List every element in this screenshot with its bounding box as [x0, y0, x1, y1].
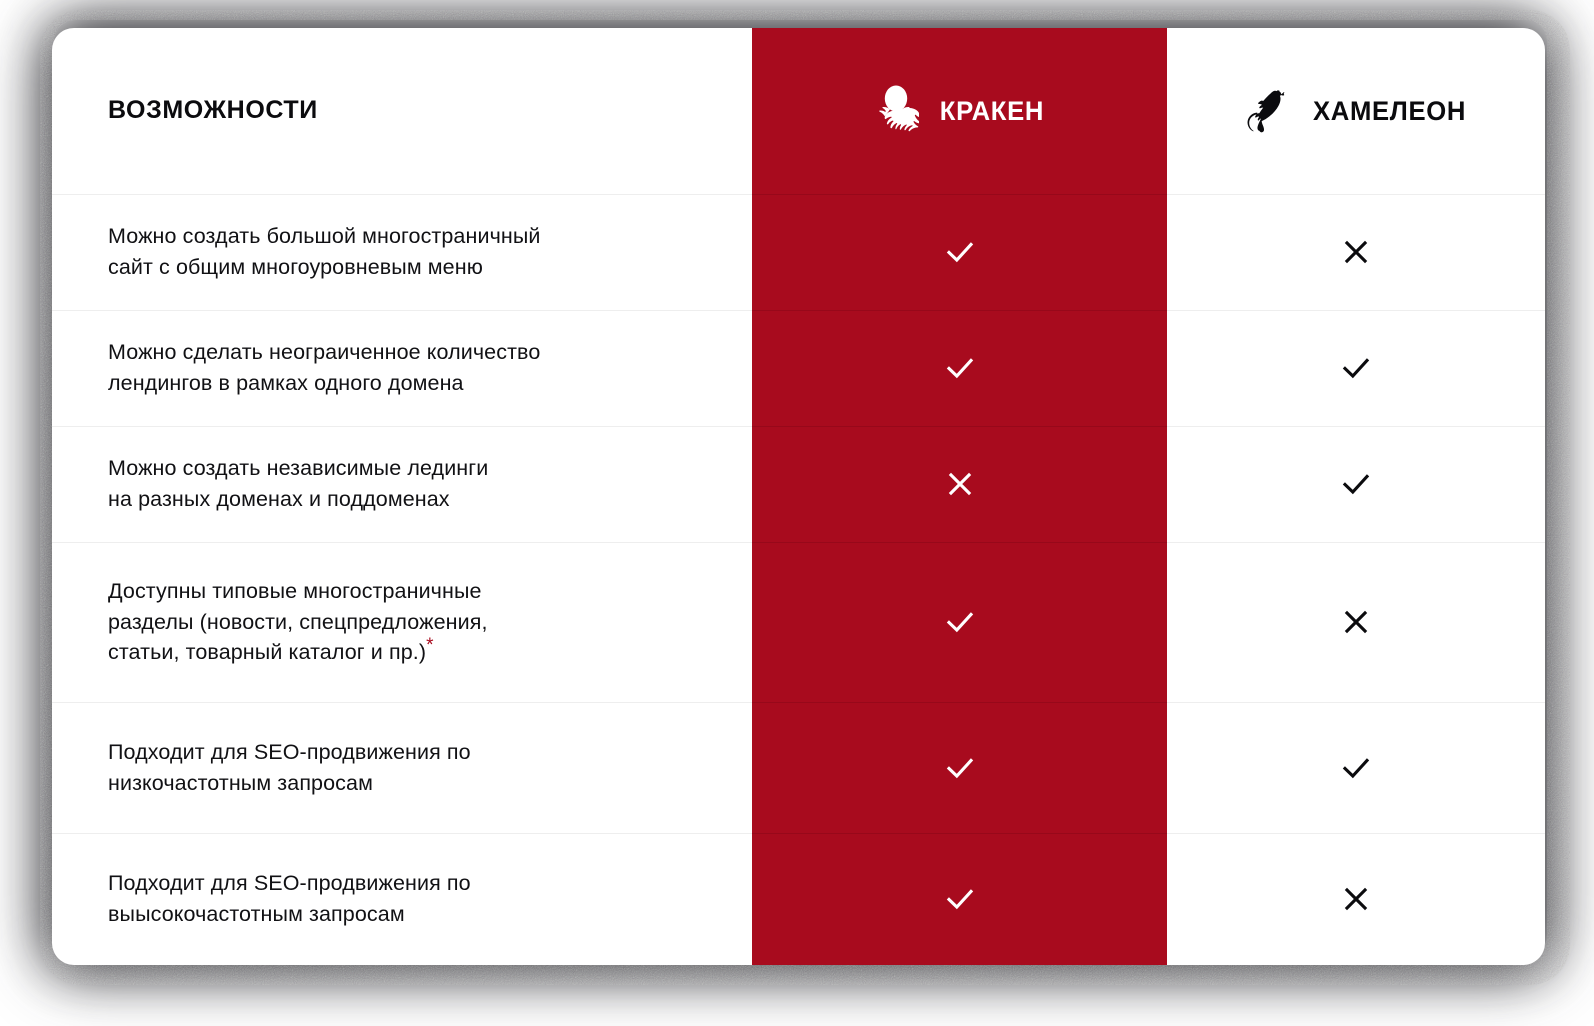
comparison-table: ВОЗМОЖНОСТИ КРАКЕН [52, 28, 1545, 965]
feature-line: статьи, товарный каталог и пр.)* [108, 637, 696, 668]
feature-label: Доступны типовые многостраничные разделы… [52, 576, 752, 668]
feature-line: Подходит для SEO-продвижения по [108, 868, 696, 899]
table-row: Можно создать независимые лединги на раз… [52, 426, 1545, 542]
feature-label: Можно сделать неограиченное количество л… [52, 337, 752, 398]
feature-line: лендингов в рамках одного домена [108, 368, 696, 399]
page-title: ВОЗМОЖНОСТИ [108, 96, 318, 124]
check-icon [1336, 748, 1376, 788]
cell-kraken-check [752, 602, 1167, 642]
chameleon-logo-icon [1241, 84, 1291, 139]
feature-line: низкочастотным запросам [108, 768, 696, 799]
table-header-row: ВОЗМОЖНОСТИ КРАКЕН [52, 28, 1545, 194]
footnote-asterisk: * [426, 635, 434, 656]
brand-name-chameleon: ХАМЕЛЕОН [1313, 96, 1466, 127]
comparison-card: ВОЗМОЖНОСТИ КРАКЕН [52, 28, 1545, 965]
check-icon [940, 879, 980, 919]
header-feature-column: ВОЗМОЖНОСТИ [52, 93, 752, 129]
cell-kraken-cross [752, 464, 1167, 504]
cell-chameleon-check [1167, 748, 1545, 788]
cell-kraken-check [752, 348, 1167, 388]
check-icon [940, 602, 980, 642]
cell-kraken-check [752, 232, 1167, 272]
cross-icon [1336, 232, 1376, 272]
feature-label: Можно создать большой многостраничный са… [52, 221, 752, 282]
check-icon [1336, 464, 1376, 504]
table-row: Доступны типовые многостраничные разделы… [52, 542, 1545, 702]
feature-label: Можно создать независимые лединги на раз… [52, 453, 752, 514]
check-icon [940, 232, 980, 272]
feature-line: Доступны типовые многостраничные [108, 576, 696, 607]
feature-label: Подходит для SEO-продвижения по низкочас… [52, 737, 752, 798]
feature-line: Можно создать независимые лединги [108, 453, 696, 484]
feature-line-text: статьи, товарный каталог и пр.) [108, 640, 426, 664]
check-icon [1336, 348, 1376, 388]
feature-line: на разных доменах и поддоменах [108, 484, 696, 515]
table-row: Можно создать большой многостраничный са… [52, 194, 1545, 310]
table-row: Подходит для SEO-продвижения по низкочас… [52, 702, 1545, 833]
cross-icon [1336, 879, 1376, 919]
check-icon [940, 348, 980, 388]
cell-chameleon-cross [1167, 232, 1545, 272]
cross-icon [940, 464, 980, 504]
octopus-logo-icon [873, 84, 919, 139]
header-column-kraken: КРАКЕН [752, 84, 1167, 139]
feature-line: сайт с общим многоуровневым меню [108, 252, 696, 283]
cell-chameleon-cross [1167, 602, 1545, 642]
cell-chameleon-check [1167, 464, 1545, 504]
feature-line: Можно создать большой многостраничный [108, 221, 696, 252]
brand-name-kraken: КРАКЕН [939, 96, 1043, 127]
cell-chameleon-cross [1167, 879, 1545, 919]
cell-kraken-check [752, 748, 1167, 788]
cross-icon [1336, 602, 1376, 642]
header-column-chameleon: ХАМЕЛЕОН [1167, 84, 1545, 139]
cell-chameleon-check [1167, 348, 1545, 388]
table-row: Можно сделать неограиченное количество л… [52, 310, 1545, 426]
table-row: Подходит для SEO-продвижения по выысокоч… [52, 833, 1545, 964]
feature-line: Можно сделать неограиченное количество [108, 337, 696, 368]
feature-line: Подходит для SEO-продвижения по [108, 737, 696, 768]
check-icon [940, 748, 980, 788]
feature-label: Подходит для SEO-продвижения по выысокоч… [52, 868, 752, 929]
feature-line: разделы (новости, спецпредложения, [108, 607, 696, 638]
cell-kraken-check [752, 879, 1167, 919]
feature-line: выысокочастотным запросам [108, 899, 696, 930]
